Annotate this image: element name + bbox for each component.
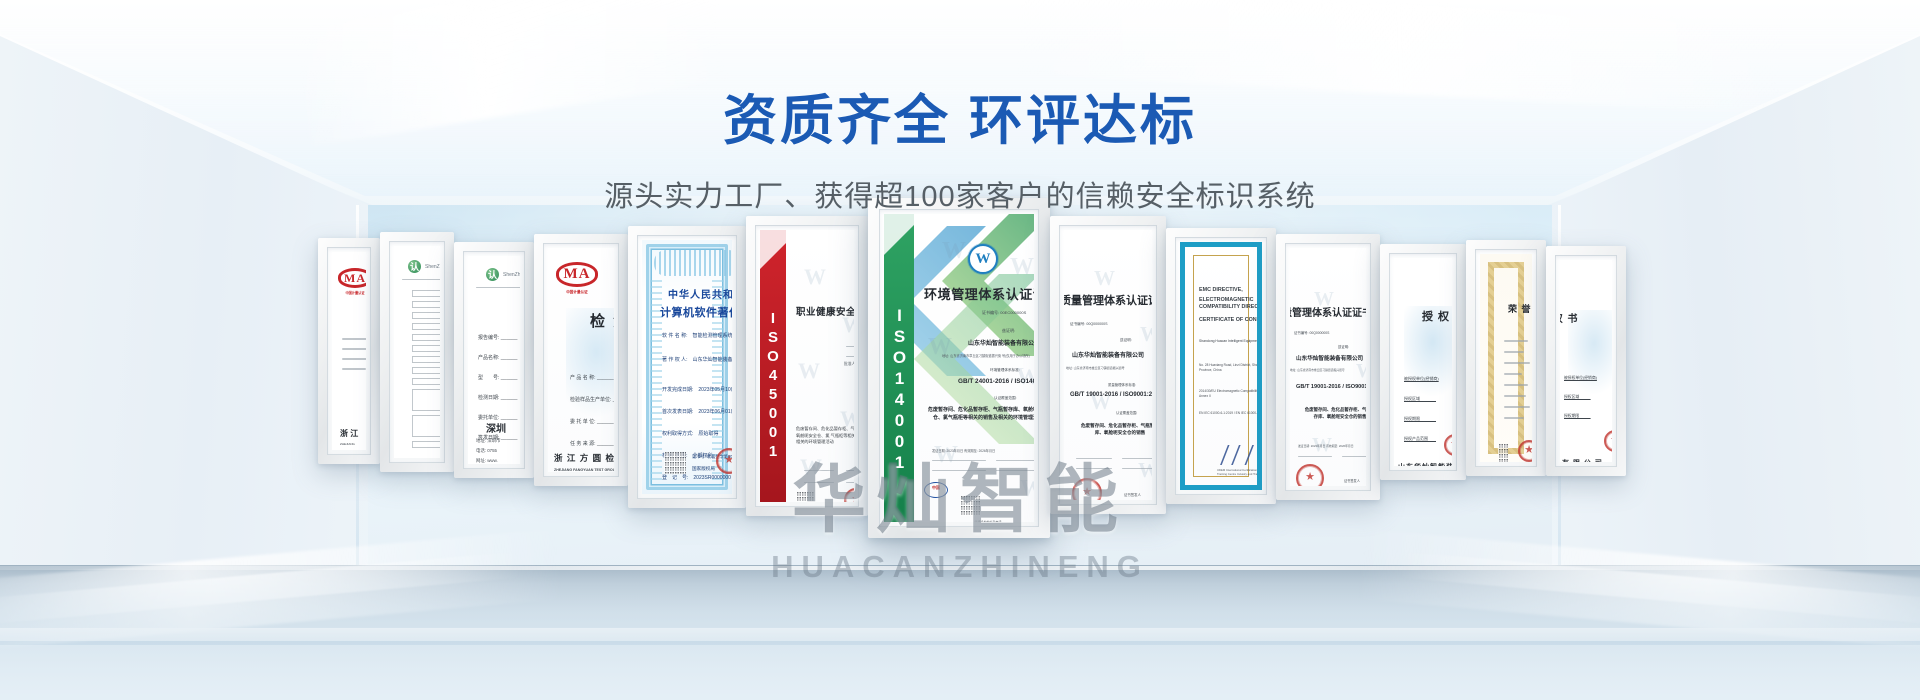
certificate-frame-honor[interactable]: 荣 誉 证 书 xyxy=(1466,240,1546,476)
issue-dates: 发证日期: 2023年月日 有效期至: 2026年月日 xyxy=(932,448,995,453)
certificate-footer: 山东华灿智能装备有限公司 xyxy=(1398,462,1452,466)
official-seal-icon xyxy=(1444,434,1452,456)
official-seal-icon xyxy=(1604,430,1612,452)
frame-mat: 荣 誉 证 书 xyxy=(1475,249,1537,467)
company-web: 网址: www. xyxy=(476,458,498,464)
cma-sublabel: 中国计量认证 xyxy=(334,290,366,295)
certificate-scope: 危废暂存间、危化品暂存柜、气瓶暂存库、氧舱呢安全仓的销售 xyxy=(1080,422,1152,437)
certificate-paper: ShenZhi xyxy=(394,246,440,458)
certificate-title: 授 权 书 xyxy=(1422,308,1452,324)
certificate-title: 环境管理体系认证证书 xyxy=(924,284,1034,303)
barcode xyxy=(1498,444,1508,462)
certificate-scope: 危废暂存间、危化品暂存柜、气瓶暂存库、氧舱呢安全仓的销售 xyxy=(1304,406,1366,420)
certificate-title: 质量管理体系认证证书 xyxy=(1064,292,1152,308)
certificate-paper: 荣 誉 证 书 xyxy=(1480,254,1532,462)
field-rows: 被授权单位(经销商) 授权区域 授权期限 xyxy=(1564,376,1597,391)
certificate-frame-inspection-3[interactable]: ShenZhi 报告编号: ______ 产品名称: ______ 型 号: _… xyxy=(454,242,534,478)
paper-watermark: W xyxy=(934,442,958,469)
company-address: 地址: 山东省济南市章丘区刁镇街道振兴街 号(仅用于办公场所) xyxy=(942,353,1030,358)
cma-logo-icon: MA xyxy=(556,262,598,287)
standard-label: 质量管理体系标准: xyxy=(1108,382,1136,387)
field-box-list xyxy=(412,290,440,452)
certificate-title-line1: 中华人民共和国 xyxy=(668,286,732,301)
certificate-footer-en: ZHEJIANG xyxy=(340,442,355,446)
company-label: 兹证明: xyxy=(1120,338,1132,343)
certificate-applicant: Shandong Huacan Intelligent Equipment Co… xyxy=(1199,339,1262,344)
certificate-paper: MA 中国计量认证 浙 江 ZHEJIANG xyxy=(332,252,366,450)
company-address: 地址: 深圳市 xyxy=(476,438,500,444)
iso-bar-corner xyxy=(884,214,914,272)
signatory-label: 证书签发人 xyxy=(1124,492,1141,497)
frame-mat: 授 权 书 被授权单位(经销商) 授权区域 授权期限 授权产品范围 山东华灿智能… xyxy=(1389,253,1457,471)
certificate-frame-inspection-2[interactable]: ShenZhi xyxy=(380,232,454,472)
official-seal-icon xyxy=(844,488,854,502)
paper-watermark: W xyxy=(1140,322,1152,347)
iso-code-bar: ISO14001 xyxy=(884,214,914,522)
standard-label: 环境管理体系标准: xyxy=(990,368,1020,373)
qr-code xyxy=(664,452,686,474)
certificate-footer: 有 限 公 司 xyxy=(1562,458,1603,462)
certificate-address: No. 28 Huaxiang Road, Linzi District, Sh… xyxy=(1199,363,1262,373)
certificate-scope: 危废暂存间、危化品暂存柜、气瓶暂存库、氧舱呢安全仓、氯 气瓶柜等相关的销售及相关… xyxy=(796,426,854,446)
certificate-signature: 批准人: 总经理 xyxy=(844,362,854,367)
certification-body-logo-glyph: W xyxy=(968,244,998,274)
signatory-label: 证书签发人 xyxy=(1344,478,1360,483)
certificate-issuer: UDEM International Certification Auditin… xyxy=(1217,469,1262,477)
frame-mat: MA 中国计量认证 检 测 报 告 产 品 名 称: ______ 检验样品生产… xyxy=(543,243,619,477)
company-tel: 电话: 0755 xyxy=(476,448,497,454)
certificate-footer-2: 国家版权局 xyxy=(692,466,715,472)
signature-graphic xyxy=(1219,445,1262,465)
certificate-frame-authorization-2[interactable]: 授 权 书 被授权单位(经销商) 授权区域 授权期限 有 限 公 司 xyxy=(1546,246,1626,476)
company-address: 地址: 山东省济南市章丘区刁镇街道振兴街号 xyxy=(1290,368,1345,372)
iso-code-label: ISO45001 xyxy=(765,310,782,462)
certificate-paper: ShenZhi 报告编号: ______ 产品名称: ______ 型 号: _… xyxy=(468,256,520,464)
scope-label: 认证覆盖范围: xyxy=(1116,410,1137,415)
certificate-number: 证书编号: 00EC000000S xyxy=(982,310,1026,316)
banner-subline: 源头实力工厂、获得超100家客户的信赖安全标识系统 xyxy=(0,173,1920,215)
agency-name: ShenZhi xyxy=(425,264,440,270)
certificate-frame-ce-emc[interactable]: EMC DIRECTIVE, ELECTROMAGNETIC COMPATIBI… xyxy=(1166,228,1276,504)
paper-watermark: W xyxy=(798,358,820,384)
company-name: 山东华灿智能装备有限公司 xyxy=(1072,350,1144,359)
certificate-title-en-3: CERTIFICATE OF CONFORMITY xyxy=(1199,317,1262,323)
certificate-directive: 2014/30/EU Electromagnetic Compatibility… xyxy=(1199,389,1262,399)
frame-mat: ShenZhi 报告编号: ______ 产品名称: ______ 型 号: _… xyxy=(463,251,525,469)
official-seal-icon xyxy=(1296,464,1324,486)
frame-mat: ShenZhi xyxy=(389,241,445,463)
certificate-number: 证书编号: 00Q000000S xyxy=(1070,322,1108,327)
certificate-frame-iso45001[interactable]: W W W W W ISO45001 职业健康安全管理体系认证证书 批准人: 总… xyxy=(746,216,868,516)
certificate-paper: W W W W W ISO45001 职业健康安全管理体系认证证书 批准人: 总… xyxy=(760,230,854,502)
field-rows: 产 品 名 称: ______ 检验样品生产单位: ____ 委 托 单 位: … xyxy=(570,374,614,402)
certificate-title: 职业健康安全管理体系认证证书 xyxy=(796,304,854,318)
paper-watermark: W xyxy=(1138,458,1152,483)
field-rows: 报告编号: ______ 产品名称: ______ 型 号: ______ 检测… xyxy=(478,334,517,376)
frame-mat: EMC DIRECTIVE, ELECTROMAGNETIC COMPATIBI… xyxy=(1175,237,1267,495)
official-seal-icon xyxy=(1072,478,1102,500)
paper-watermark: W xyxy=(1356,360,1366,383)
banner-headline: 资质齐全 环评达标 xyxy=(0,92,1920,151)
scope-label: 认证覆盖范围: xyxy=(994,396,1017,401)
certificate-paper: W W W 质量管理体系认证证书 证书编号: 00Q000000S 兹证明: 山… xyxy=(1290,248,1366,486)
certificate-number: 证书编号: 00Q000000S xyxy=(1294,330,1329,335)
certificate-frame-authorization-1[interactable]: 授 权 书 被授权单位(经销商) 授权区域 授权期限 授权产品范围 山东华灿智能… xyxy=(1380,244,1466,480)
company-label: 兹证明: xyxy=(1338,344,1349,349)
standard-value: GB/T 19001-2016 / ISO9001:2015 xyxy=(1296,384,1366,390)
certificate-paper: W W W W 质量管理体系认证证书 证书编号: 00Q000000S 兹证明:… xyxy=(1064,230,1152,500)
issue-dates: 发证日期: 2023年月日 有效期至: 2026年月日 xyxy=(1298,444,1354,448)
iso-bar-corner xyxy=(760,230,786,288)
certificate-paper: 授 权 书 被授权单位(经销商) 授权区域 授权期限 授权产品范围 山东华灿智能… xyxy=(1394,258,1452,466)
certificate-title: 荣 誉 证 书 xyxy=(1508,302,1532,315)
frame-mat: MA 中国计量认证 浙 江 ZHEJIANG xyxy=(327,247,371,455)
certificate-frame-iso14001[interactable]: W W W W W W W ISO14001 环境管理体系认证证书 证书编号: … xyxy=(868,198,1050,538)
company-name: 深圳 xyxy=(486,420,506,435)
certificate-paper: 中华人民共和国 计算机软件著作权登记证书 软 件 名 称: 智能检测管理系统 V… xyxy=(642,240,732,494)
iso-code-bar: ISO45001 xyxy=(760,230,786,502)
frame-mat: W W W 质量管理体系认证证书 证书编号: 00Q000000S 兹证明: 山… xyxy=(1285,243,1371,491)
agency-logo-icon xyxy=(408,260,421,273)
certificate-frame-iso9001-cn[interactable]: W W W W 质量管理体系认证证书 证书编号: 00Q000000S 兹证明:… xyxy=(1050,216,1166,514)
certificate-paper: W W W W W W W ISO14001 环境管理体系认证证书 证书编号: … xyxy=(884,214,1034,522)
paper-watermark: W xyxy=(1020,476,1034,503)
agency-logo-icon xyxy=(486,268,499,281)
certificate-title: 检 测 报 告 xyxy=(590,310,614,331)
certificate-footer-en: ZHEJIANG FANGYUAN TEST GROUP CO., LTD. xyxy=(554,468,614,472)
paper-watermark: W xyxy=(942,238,966,265)
standard-value: GB/T 24001-2016 / ISO14001:2015 xyxy=(958,378,1034,385)
banner-text-block: 资质齐全 环评达标 源头实力工厂、获得超100家客户的信赖安全标识系统 xyxy=(0,92,1920,215)
certificate-frame-cma-report-1[interactable]: MA 中国计量认证 浙 江 ZHEJIANG xyxy=(318,238,380,464)
official-seal-icon xyxy=(1518,440,1532,462)
certificate-frame-software-copyright[interactable]: 中华人民共和国 计算机软件著作权登记证书 软 件 名 称: 智能检测管理系统 V… xyxy=(628,226,746,508)
frame-mat: 中华人民共和国 计算机软件著作权登记证书 软 件 名 称: 智能检测管理系统 V… xyxy=(637,235,737,499)
paper-watermark: W xyxy=(804,264,826,290)
certificate-standard: EN IEC 61000-6-1:2019 / EN IEC 61000-6-3… xyxy=(1199,411,1262,416)
certificate-title-en-1: EMC DIRECTIVE, xyxy=(1199,287,1243,293)
paper-watermark: W xyxy=(800,454,822,480)
certificate-footer-cn: 浙 江 xyxy=(340,428,358,439)
certificate-footer-cn: 浙 江 方 圆 检 测 集 团 股 份 有 限 公 司 xyxy=(554,452,614,464)
qr-code xyxy=(796,492,814,502)
cma-sublabel: 中国计量认证 xyxy=(552,290,602,295)
frame-mat: W W W W W ISO45001 职业健康安全管理体系认证证书 批准人: 总… xyxy=(755,225,859,507)
company-name: 山东华灿智能装备有限公司 xyxy=(1296,354,1363,362)
company-name: 山东华灿智能装备有限公司 xyxy=(968,338,1034,347)
certificate-title: 质量管理体系认证证书 xyxy=(1290,304,1366,319)
paper-watermark: W xyxy=(1094,266,1115,291)
agency-name: ShenZhi xyxy=(503,272,520,278)
certificate-frame-cma-report-4[interactable]: MA 中国计量认证 检 测 报 告 产 品 名 称: ______ 检验样品生产… xyxy=(534,234,628,486)
company-address: 地址: 山东省济南市章丘区刁镇街道振兴街号 xyxy=(1066,366,1125,370)
frame-mat: W W W W W W W ISO14001 环境管理体系认证证书 证书编号: … xyxy=(879,209,1039,527)
certificate-title-en-2: ELECTROMAGNETIC COMPATIBILITY DIRECTIVE xyxy=(1199,297,1262,311)
certificate-paper: 授 权 书 被授权单位(经销商) 授权区域 授权期限 有 限 公 司 xyxy=(1560,260,1612,462)
certificate-paper: MA 中国计量认证 检 测 报 告 产 品 名 称: ______ 检验样品生产… xyxy=(548,248,614,472)
certificate-footer: 认证机构地址及电话 xyxy=(928,520,1034,522)
paper-watermark: W xyxy=(1010,254,1034,281)
ornament-top xyxy=(654,250,732,276)
certificate-frame-iso9001-cn-2[interactable]: W W W 质量管理体系认证证书 证书编号: 00Q000000S 兹证明: 山… xyxy=(1276,234,1380,500)
body-lines xyxy=(1504,340,1530,428)
udem-mark-icon: UDEM xyxy=(1245,487,1262,490)
company-label: 兹证明: xyxy=(1002,328,1015,334)
frame-mat: W W W W 质量管理体系认证证书 证书编号: 00Q000000S 兹证明:… xyxy=(1059,225,1157,505)
certificate-scope: 危废暂存间、危化品暂存柜、气瓶暂存库、氧舱呢安全仓、氯气瓶柜等相关的销售及相关的… xyxy=(928,406,1034,423)
iso-code-label: ISO14001 xyxy=(889,306,909,474)
certificate-title-line2: 计算机软件著作权登记证书 xyxy=(660,304,732,320)
field-rows: 被授权单位(经销商) 授权区域 授权期限 授权产品范围 xyxy=(1404,376,1439,400)
banner-stage: 资质齐全 环评达标 源头实力工厂、获得超100家客户的信赖安全标识系统 MA 中… xyxy=(0,0,1920,700)
certificate-paper: EMC DIRECTIVE, ELECTROMAGNETIC COMPATIBI… xyxy=(1180,242,1262,490)
field-rows: 软 件 名 称: 智能检测管理系统 V1.0 著 作 权 人: 山东华灿智能装备… xyxy=(662,332,732,381)
frame-mat: 授 权 书 被授权单位(经销商) 授权区域 授权期限 有 限 公 司 xyxy=(1555,255,1617,467)
qr-code xyxy=(960,496,980,516)
certificate-title: 授 权 书 xyxy=(1560,310,1579,325)
cma-logo-icon: MA xyxy=(338,268,366,288)
standard-value: GB/T 19001-2016 / ISO9001:2015 xyxy=(1070,392,1152,398)
accreditation-mark-label: 中国 xyxy=(924,485,948,491)
